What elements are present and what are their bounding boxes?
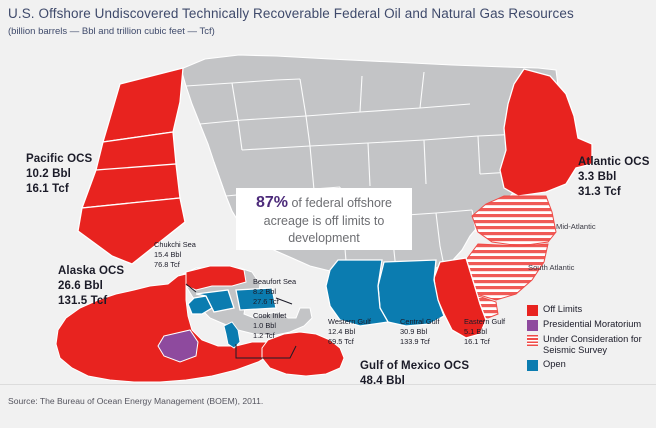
chukchi-sea-name: Chukchi Sea [154, 240, 196, 250]
central-gulf-name: Central Gulf [400, 317, 439, 327]
legend-label-off-limits: Off Limits [543, 304, 582, 315]
gulf-ocs-name: Gulf of Mexico OCS [360, 359, 469, 374]
eastern-gulf-label: Eastern Gulf 5.1 Bbl 16.1 Tcf [464, 317, 505, 347]
central-gulf-label: Central Gulf 30.9 Bbl 133.9 Tcf [400, 317, 439, 347]
page-title: U.S. Offshore Undiscovered Technically R… [8, 6, 574, 21]
pacific-ocs-gas: 16.1 Tcf [26, 182, 92, 197]
seismic-survey-hatched-swatch-icon [527, 335, 538, 346]
infographic-page: U.S. Offshore Undiscovered Technically R… [0, 0, 656, 427]
legend-item-presidential-moratorium[interactable]: Presidential Moratorium [527, 319, 652, 331]
cook-inlet-name: Cook Inlet [253, 311, 286, 321]
cook-inlet-gas: 1.2 Tcf [253, 331, 286, 341]
western-gulf-oil: 12.4 Bbl [328, 327, 371, 337]
atlantic-ocs-gas: 31.3 Tcf [578, 185, 650, 200]
eastern-gulf-gas: 16.1 Tcf [464, 337, 505, 347]
cook-inlet-oil: 1.0 Bbl [253, 321, 286, 331]
legend-item-off-limits[interactable]: Off Limits [527, 304, 652, 316]
eastern-gulf-name: Eastern Gulf [464, 317, 505, 327]
chukchi-sea-oil: 15.4 Bbl [154, 250, 196, 260]
central-gulf-oil: 30.9 Bbl [400, 327, 439, 337]
callout-box: 87% of federal offshore acreage is off l… [236, 188, 412, 250]
central-gulf-gas: 133.9 Tcf [400, 337, 439, 347]
legend-label-open: Open [543, 359, 566, 370]
callout-percent: 87% [256, 194, 288, 211]
pacific-ocs-name: Pacific OCS [26, 152, 92, 167]
legend-label-seismic-survey: Under Consideration for Seismic Survey [543, 334, 652, 356]
eastern-gulf-oil: 5.1 Bbl [464, 327, 505, 337]
source-note: Source: The Bureau of Ocean Energy Manag… [8, 396, 263, 406]
header: U.S. Offshore Undiscovered Technically R… [0, 0, 656, 48]
footer: Source: The Bureau of Ocean Energy Manag… [0, 384, 656, 428]
beaufort-sea-gas: 27.6 Tcf [253, 297, 296, 307]
beaufort-sea-oil: 8.2 Bbl [253, 287, 296, 297]
legend-label-presidential-moratorium: Presidential Moratorium [543, 319, 641, 330]
legend-item-seismic-survey[interactable]: Under Consideration for Seismic Survey [527, 334, 652, 356]
chukchi-sea-label: Chukchi Sea 15.4 Bbl 76.8 Tcf [154, 240, 196, 270]
alaska-ocs-label: Alaska OCS 26.6 Bbl 131.5 Tcf [58, 264, 124, 309]
presidential-moratorium-swatch-icon [527, 320, 538, 331]
atlantic-ocs-label: Atlantic OCS 3.3 Bbl 31.3 Tcf [578, 155, 650, 200]
pacific-ocs-label: Pacific OCS 10.2 Bbl 16.1 Tcf [26, 152, 92, 197]
atlantic-ocs-oil: 3.3 Bbl [578, 170, 650, 185]
south-atlantic-label: South Atlantic [528, 263, 574, 272]
western-gulf-name: Western Gulf [328, 317, 371, 327]
off-limits-swatch-icon [527, 305, 538, 316]
beaufort-sea-label: Beaufort Sea 8.2 Bbl 27.6 Tcf [253, 277, 296, 307]
beaufort-sea-name: Beaufort Sea [253, 277, 296, 287]
legend: Off Limits Presidential Moratorium Under… [527, 304, 652, 374]
pacific-ocs-oil: 10.2 Bbl [26, 167, 92, 182]
alaska-ocs-oil: 26.6 Bbl [58, 279, 124, 294]
western-gulf-label: Western Gulf 12.4 Bbl 69.5 Tcf [328, 317, 371, 347]
chukchi-sea-gas: 76.8 Tcf [154, 260, 196, 270]
legend-item-open[interactable]: Open [527, 359, 652, 371]
western-gulf-gas: 69.5 Tcf [328, 337, 371, 347]
mid-atlantic-label: Mid-Atlantic [556, 222, 596, 231]
cook-inlet-label: Cook Inlet 1.0 Bbl 1.2 Tcf [253, 311, 286, 341]
page-subtitle: (billion barrels — Bbl and trillion cubi… [8, 26, 215, 37]
alaska-ocs-name: Alaska OCS [58, 264, 124, 279]
atlantic-ocs-name: Atlantic OCS [578, 155, 650, 170]
callout-text: 87% of federal offshore acreage is off l… [236, 192, 412, 246]
open-swatch-icon [527, 360, 538, 371]
alaska-ocs-gas: 131.5 Tcf [58, 294, 124, 309]
